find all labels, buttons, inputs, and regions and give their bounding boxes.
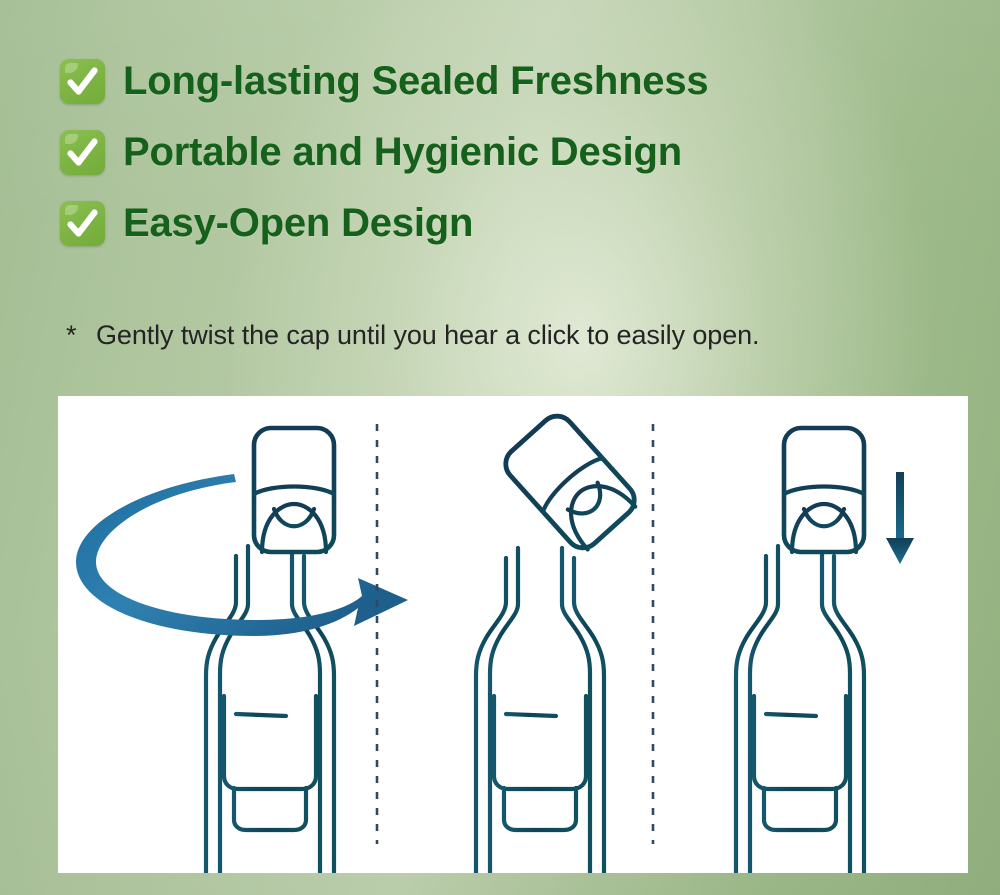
bottle-with-cap — [736, 546, 864, 873]
feature-item-0: Long-lasting Sealed Freshness — [60, 46, 940, 117]
page-root: Long-lasting Sealed Freshness Portable a… — [0, 0, 1000, 895]
step-press-illustration — [736, 428, 914, 873]
bottle-with-cap — [206, 546, 334, 873]
circular-arrow-icon — [76, 474, 408, 636]
note-text: Gently twist the cap until you hear a cl… — [96, 320, 759, 351]
feature-item-1: Portable and Hygienic Design — [60, 117, 940, 188]
check-square-icon — [60, 59, 105, 104]
illustration-panel — [58, 396, 968, 873]
check-square-icon — [60, 130, 105, 175]
feature-label-2: Easy-Open Design — [123, 201, 473, 246]
check-square-icon — [60, 201, 105, 246]
feature-item-2: Easy-Open Design — [60, 188, 940, 259]
feature-list: Long-lasting Sealed Freshness Portable a… — [60, 46, 940, 259]
feature-label-0: Long-lasting Sealed Freshness — [123, 59, 708, 104]
feature-label-1: Portable and Hygienic Design — [123, 130, 682, 175]
bottle-without-cap — [476, 548, 604, 873]
arrow-down-icon — [886, 472, 914, 564]
note-asterisk-marker: * — [66, 320, 96, 351]
step-twist-illustration — [76, 428, 408, 873]
tilted-cap-icon — [499, 409, 641, 555]
instruction-note: * Gently twist the cap until you hear a … — [66, 320, 759, 351]
step-lift-illustration — [476, 409, 641, 873]
